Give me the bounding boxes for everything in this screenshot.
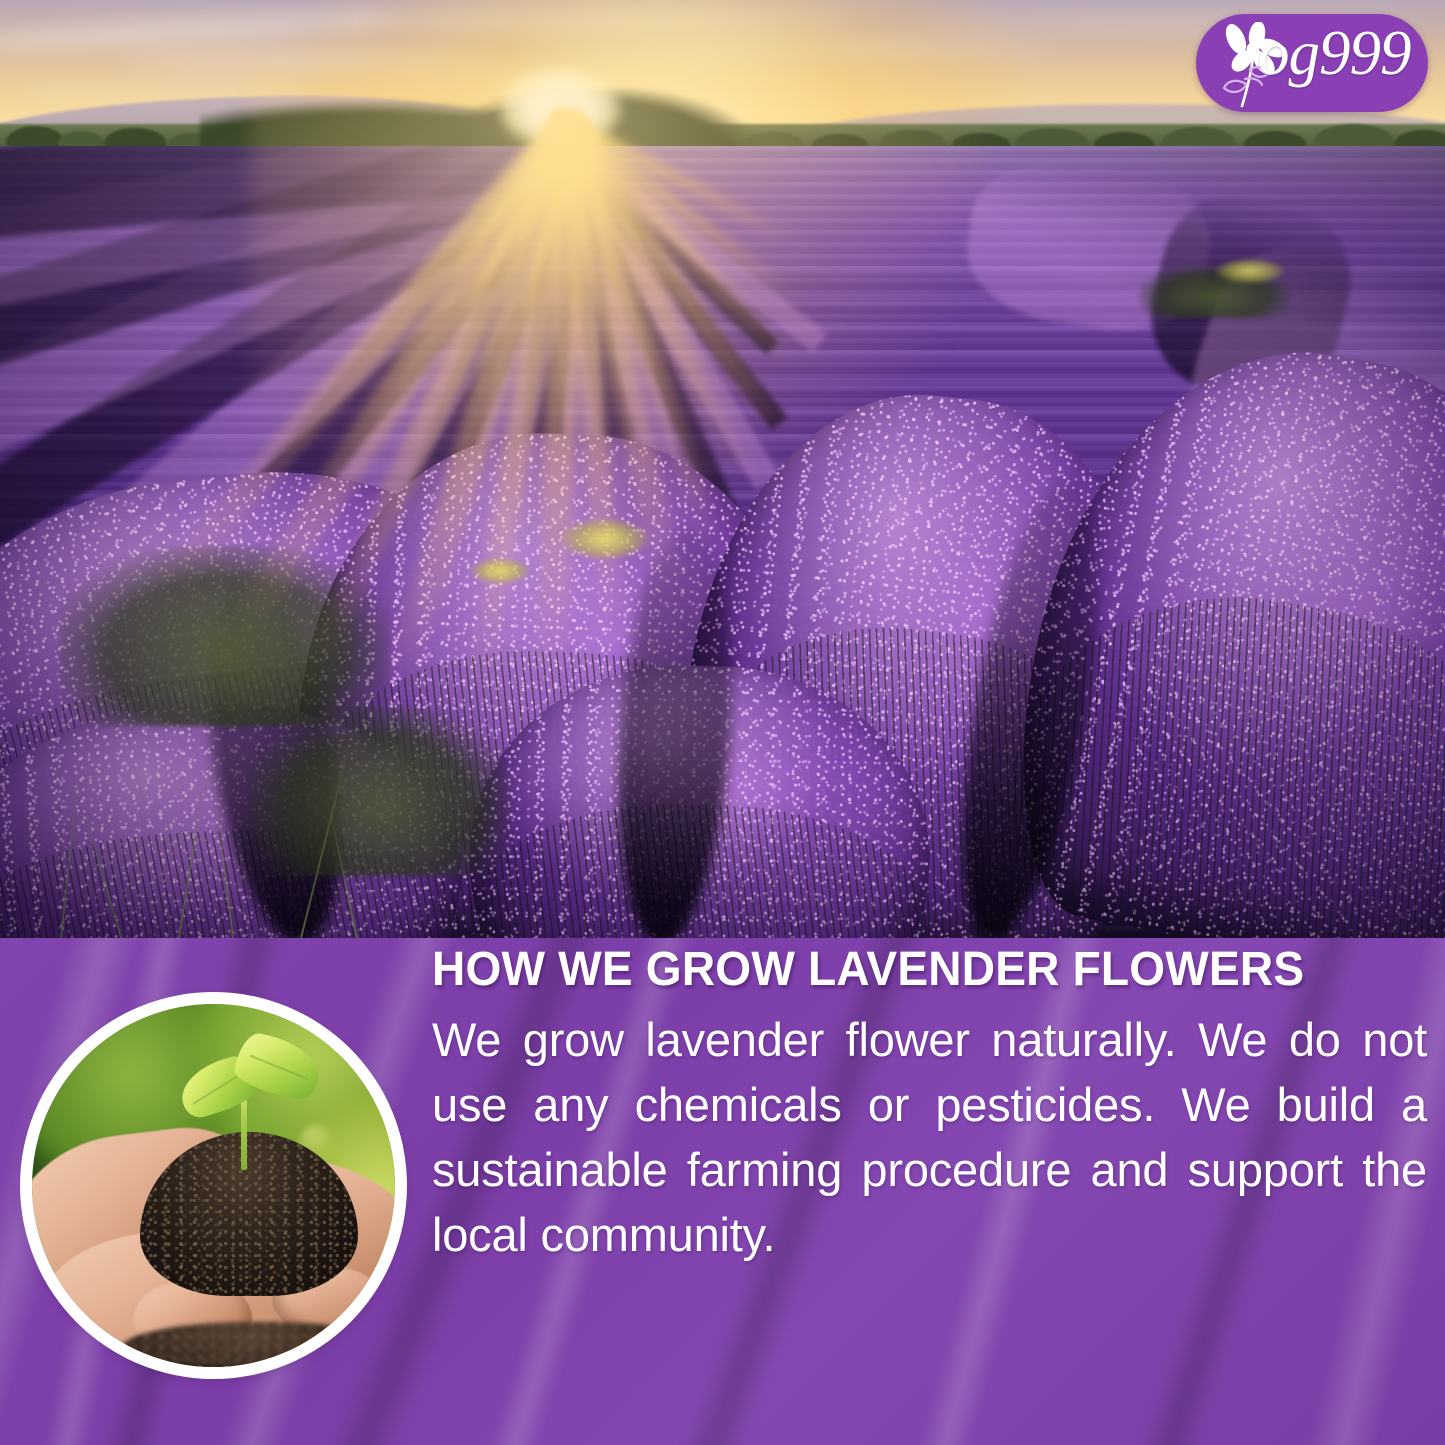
info-text-column: HOW WE GROW LAVENDER FLOWERS We grow lav… [432, 946, 1432, 1267]
hero-lavender-field-image [0, 0, 1445, 938]
sustainability-circle-image [26, 998, 401, 1373]
product-infographic: og999 [0, 0, 1445, 1445]
soil-texture [120, 1322, 395, 1367]
panel-heading: HOW WE GROW LAVENDER FLOWERS [432, 946, 1392, 994]
leaf-vein [250, 1055, 308, 1080]
panel-body-text: We grow lavender flower naturally. We do… [432, 1008, 1427, 1267]
brand-logo-badge[interactable]: og999 [1196, 14, 1428, 112]
hands-holding-seedling-image [32, 1004, 395, 1367]
sun-rays [0, 0, 1445, 938]
soil-ground [120, 1322, 395, 1367]
brand-name: og999 [1258, 22, 1411, 85]
leaf-vein [192, 1074, 241, 1105]
